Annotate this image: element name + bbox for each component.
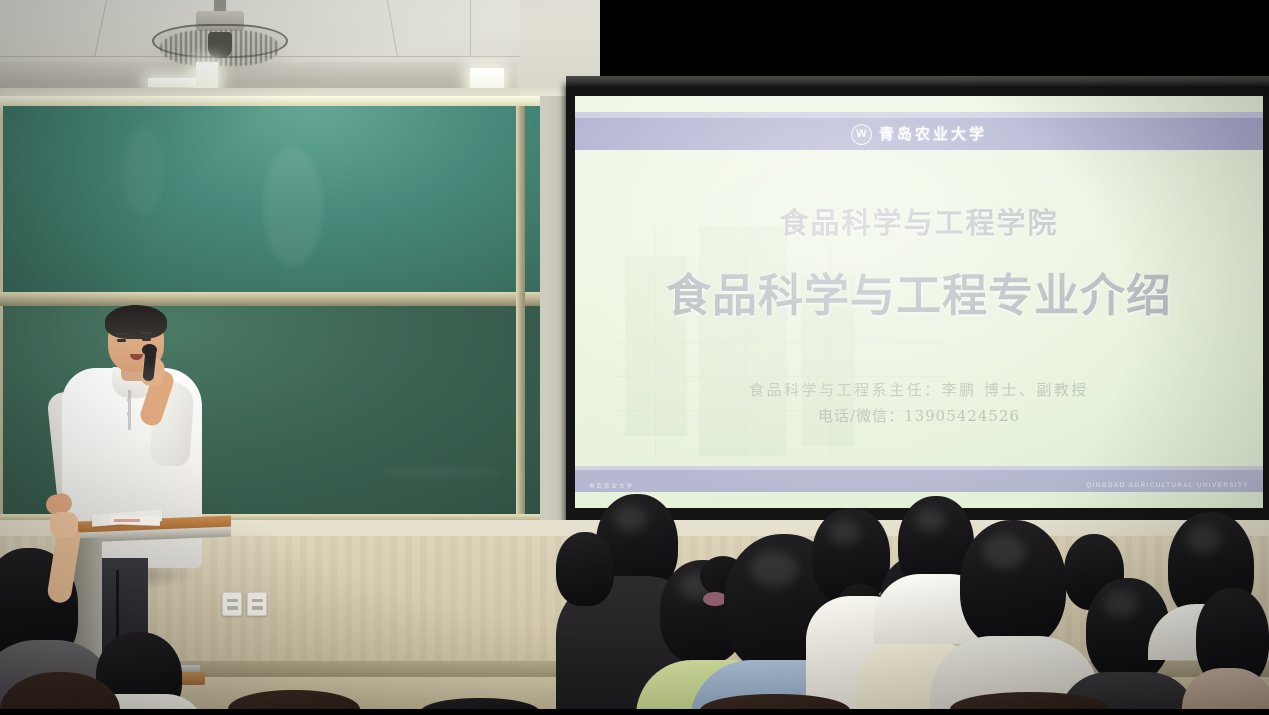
student-head	[556, 532, 614, 606]
slide-title: 食品科学与工程专业介绍	[575, 259, 1263, 324]
logo-seal-icon: W	[851, 124, 872, 145]
campus-building-watermark	[615, 216, 945, 466]
ceiling	[0, 0, 600, 96]
projection-screen: W 青岛农业大学 食品科学与工程学院 食品科学与工程专业介绍 食品科学与工程系主…	[566, 86, 1269, 522]
wall-outlet-right[interactable]	[247, 592, 267, 616]
slide-subtitle: 食品科学与工程学院	[575, 200, 1263, 242]
chalkboard-upper-panel	[3, 106, 569, 296]
letterbox-bar	[0, 709, 1269, 715]
slide-contact-line: 电话/微信：13905424526	[575, 405, 1263, 426]
microphone-head-icon	[142, 344, 157, 356]
lecture-hall-scene: W 青岛农业大学 食品科学与工程学院 食品科学与工程专业介绍 食品科学与工程系主…	[0, 0, 1269, 715]
slide-presenter-line: 食品科学与工程系主任：李鹏 博士、副教授	[575, 379, 1263, 400]
presentation-slide: W 青岛农业大学 食品科学与工程学院 食品科学与工程专业介绍 食品科学与工程系主…	[575, 96, 1263, 508]
wall-outlet-left[interactable]	[222, 592, 242, 616]
student-head	[960, 520, 1066, 648]
fluorescent-light-center	[196, 62, 218, 88]
presenter-hair	[105, 305, 167, 339]
logo-university-name: 青岛农业大学	[879, 127, 987, 142]
slide-footer-right: QINGDAO AGRICULTURAL UNIVERSITY	[1086, 483, 1249, 489]
slide-footer-left: 青岛农业大学	[589, 482, 634, 490]
university-logo: W 青岛农业大学	[575, 118, 1263, 150]
